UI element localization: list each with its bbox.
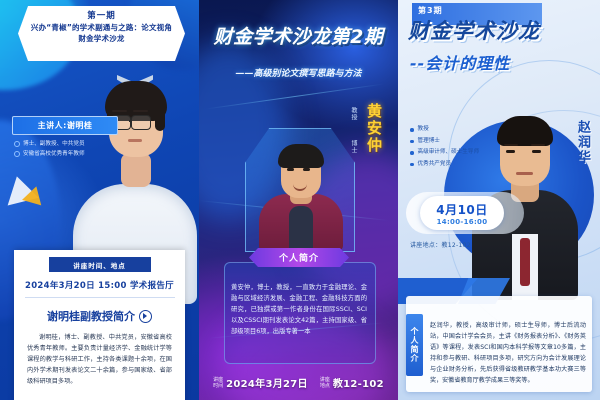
poster-1-card-title[interactable]: 谢明桂副教授简介 — [14, 308, 185, 324]
poster-1-title-line2: 兴办“青椒”的学术副通与之路：论文视角 — [20, 22, 183, 33]
hair-shape — [497, 116, 553, 146]
poster-gallery: 第一期 兴办“青椒”的学术副通与之路：论文视角 财金学术沙龙 主讲人:谢明桂 博… — [0, 0, 600, 400]
eyebrow-left — [112, 110, 127, 112]
poster-1-card-date: 2024年3月20日 15:00 学术报告厅 — [14, 279, 185, 291]
poster-2-place-value: 教12-102 — [333, 375, 384, 390]
eye-right — [303, 168, 310, 171]
bullet-dot-icon — [14, 151, 20, 157]
poster-2-footer-time: 讲座时间 2024年3月27日 — [213, 375, 308, 390]
credential-text: 博士、副教授、中共党员 — [23, 139, 85, 149]
credential-text: 优秀共产党员 — [418, 159, 452, 171]
poster-3-date-main: 4月10日 — [436, 201, 488, 218]
decorative-triangle-gold — [22, 184, 46, 206]
poster-2-speaker-tag-2: 博士 — [349, 140, 358, 154]
poster-3-date-pill: 4月10日 14:00-16:00 — [420, 196, 504, 230]
bullet-dot-icon — [14, 141, 20, 147]
list-item: 博士、副教授、中共党员 — [14, 139, 130, 149]
credential-text: 安徽省高校优秀青年教师 — [23, 149, 85, 159]
poster-2-title: 财金学术沙龙第2期 — [199, 22, 398, 49]
glasses-lens-right-icon — [131, 115, 151, 130]
credential-text: 教授 — [418, 124, 429, 136]
eye-left — [287, 168, 294, 171]
poster-3-profile-tab: 个人简介 — [406, 314, 423, 376]
poster-3-credentials: 教授 管理博士 高级审计师、硕士生导师 优秀共产党员 — [410, 124, 502, 170]
poster-2-time-value: 2024年3月27日 — [226, 375, 308, 390]
hair-shape — [278, 144, 324, 168]
list-item: 安徽省高校优秀青年教师 — [14, 149, 130, 159]
poster-1-card-badge: 讲座时间、地点 — [49, 257, 151, 272]
poster-3-title: 财金学术沙龙 — [408, 15, 540, 45]
poster-2-footer-place: 讲座地点 教12-102 — [320, 375, 384, 390]
divider — [25, 297, 175, 298]
poster-2-speaker-name: 黄安仲 — [361, 103, 385, 154]
poster-2-speaker-tag-1: 教授 — [349, 107, 358, 121]
poster-2-place-label: 讲座地点 — [320, 377, 330, 389]
list-item: 教授 — [410, 124, 502, 136]
poster-2-time-label: 讲座时间 — [213, 377, 223, 389]
poster-2[interactable]: 财金学术沙龙第2期 ——高级别论文撰写思路与方法 教授 博士 黄安仲 个人简介 … — [199, 0, 398, 400]
poster-1-card-title-text: 谢明桂副教授简介 — [47, 308, 135, 324]
list-item: 高级审计师、硕士生导师 — [410, 147, 502, 159]
inner-shirt-shape — [289, 206, 313, 250]
eyebrow-right — [133, 110, 148, 112]
poster-2-footer: 讲座时间 2024年3月27日 讲座地点 教12-102 — [199, 375, 398, 390]
credential-text: 管理博士 — [418, 136, 440, 148]
play-arrow-icon[interactable] — [139, 310, 152, 323]
credential-text: 高级审计师、硕士生导师 — [418, 147, 480, 159]
poster-1-issue: 第一期 — [20, 10, 183, 22]
poster-1-info-card: 讲座时间、地点 2024年3月20日 15:00 学术报告厅 谢明桂副教授简介 … — [14, 250, 185, 400]
poster-1-title-plate: 第一期 兴办“青椒”的学术副通与之路：论文视角 财金学术沙龙 — [18, 6, 185, 61]
poster-1[interactable]: 第一期 兴办“青椒”的学术副通与之路：论文视角 财金学术沙龙 主讲人:谢明桂 博… — [0, 0, 199, 400]
poster-3-speaker-name: 赵润华 — [570, 120, 592, 165]
poster-1-title-line3: 财金学术沙龙 — [20, 33, 183, 44]
poster-3-date-time: 14:00-16:00 — [437, 218, 488, 226]
poster-2-speaker-photo — [259, 146, 343, 250]
poster-1-credentials: 博士、副教授、中共党员 安徽省高校优秀青年教师 — [14, 139, 130, 159]
poster-2-profile-body: 黄安仲，博士，教授，一直致力于金融理论、金融与区域经济发展、金融工程、金融科技方… — [231, 282, 367, 337]
list-item: 优秀共产党员 — [410, 159, 502, 171]
tie-shape — [520, 238, 530, 286]
poster-3-subtitle: --会计的理性 — [410, 50, 510, 74]
eye-left — [506, 150, 515, 153]
glasses-bridge-icon — [129, 120, 132, 122]
eye-right — [532, 150, 541, 153]
bullet-dot-icon — [410, 151, 414, 155]
bullet-dot-icon — [410, 163, 414, 167]
bullet-dot-icon — [410, 128, 414, 132]
poster-2-profile-badge: 个人简介 — [249, 248, 349, 267]
poster-1-speaker-bar: 主讲人:谢明桂 — [12, 116, 118, 135]
bullet-dot-icon — [410, 140, 414, 144]
list-item: 管理博士 — [410, 136, 502, 148]
poster-1-card-body: 谢明桂，博士、副教授、中共党员，安徽省高校优秀青年教师。主要负责计量经济学、金融… — [27, 332, 172, 387]
poster-3[interactable]: 第3期 财金学术沙龙 --会计的理性 赵润华 教授 管理博士 — [398, 0, 600, 400]
poster-3-profile-body: 赵润华，教授，高级审计师，硕士生导师，博士后流动站，中国会计学会会员，主讲《财务… — [430, 320, 586, 386]
mouth-shape — [516, 172, 533, 175]
poster-2-subtitle: ——高级别论文撰写思路与方法 — [199, 66, 398, 79]
mouth-shape — [128, 139, 142, 142]
poster-3-place: 讲座地点：教12-102 — [410, 240, 471, 249]
